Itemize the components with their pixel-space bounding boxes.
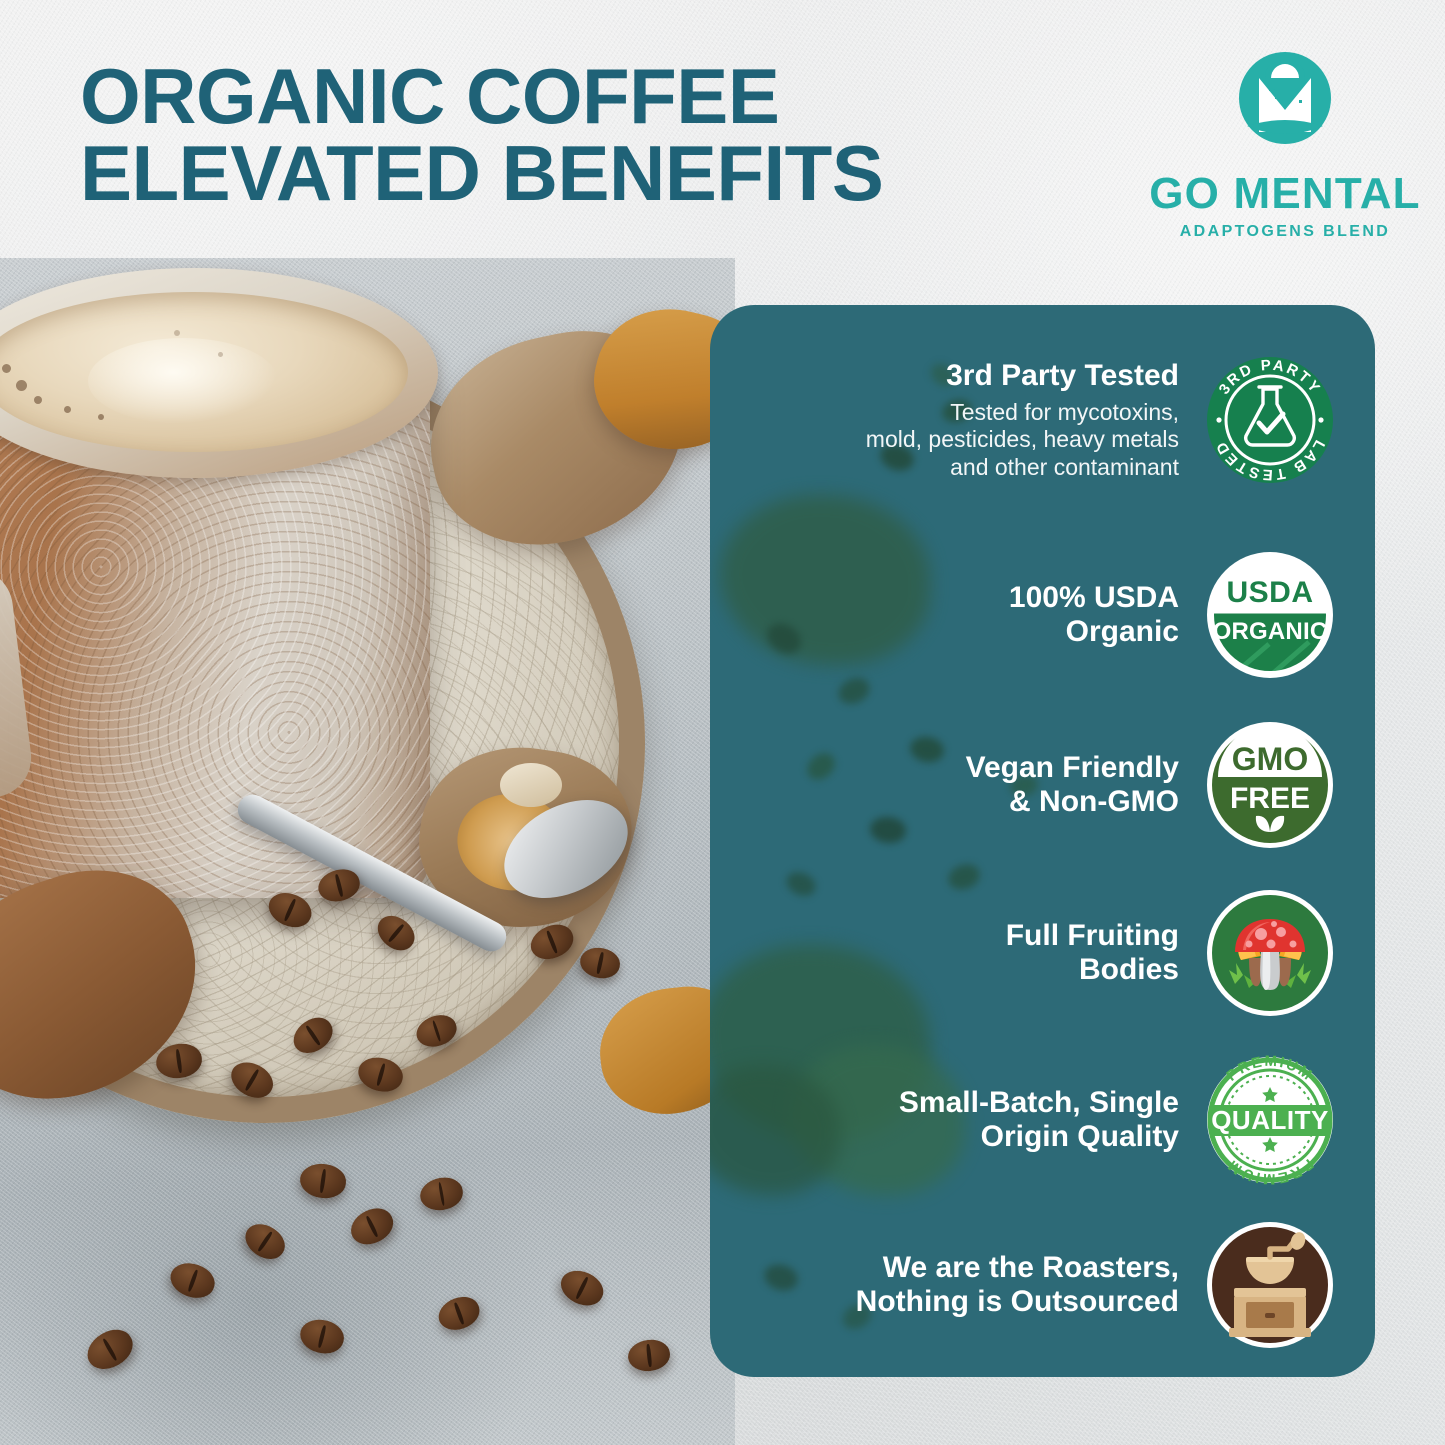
benefit-text: Full Fruiting Bodies [1006,919,1179,987]
title-line-1: ORGANIC COFFEE [80,58,960,135]
benefit-title: 100% USDA Organic [1009,581,1179,649]
usda-organic-badge-icon: USDA ORGANIC [1205,550,1335,680]
coffee-product-photo [0,258,735,1445]
coffee-mug [0,268,430,898]
svg-text:FREE: FREE [1230,782,1310,815]
benefit-text: Vegan Friendly & Non-GMO [966,751,1179,819]
svg-text:QUALITY: QUALITY [1211,1105,1329,1135]
benefit-row-vegan-non-gmo[interactable]: Vegan Friendly & Non-GMO GMO FREE [742,720,1335,850]
benefit-text: We are the Roasters, Nothing is Outsourc… [856,1251,1179,1319]
benefit-row-full-fruiting-bodies[interactable]: Full Fruiting Bodies [742,888,1335,1018]
page-title: ORGANIC COFFEE ELEVATED BENEFITS [80,58,960,212]
benefits-panel: 3rd Party Tested Tested for mycotoxins, … [710,305,1375,1377]
premium-quality-stamp-badge-icon: PREMIUM PREMIUM QUALITY [1205,1055,1335,1185]
foam-bubble [218,352,223,357]
svg-text:GMO: GMO [1232,741,1308,777]
benefit-row-usda-organic[interactable]: 100% USDA Organic USDA O [742,550,1335,680]
gmo-free-badge-icon: GMO FREE [1205,720,1335,850]
benefit-title: Small-Batch, Single Origin Quality [899,1086,1179,1154]
foam-bubble [174,330,180,336]
coffee-grinder-badge-icon [1205,1220,1335,1350]
benefit-subtitle: Tested for mycotoxins, mold, pesticides,… [866,399,1179,482]
foam-bubble [2,364,11,373]
foam-bubble [16,380,27,391]
foam-bubble [98,414,104,420]
foam-swirl [88,338,278,424]
mushroom-m-monogram-icon [1229,48,1341,160]
benefit-title: 3rd Party Tested [866,359,1179,393]
third-party-lab-tested-badge-icon: 3RD PARTY LAB TESTED [1205,355,1335,485]
benefit-title: Vegan Friendly & Non-GMO [966,751,1179,819]
mushroom-cap-piece [500,763,562,807]
benefit-row-small-batch-quality[interactable]: Small-Batch, Single Origin Quality PREMI… [742,1055,1335,1185]
svg-text:USDA: USDA [1226,576,1313,609]
foam-bubble [34,396,42,404]
foam-bubble [64,406,71,413]
benefit-row-third-party-tested[interactable]: 3rd Party Tested Tested for mycotoxins, … [742,355,1335,485]
mushrooms-badge-icon [1205,888,1335,1018]
benefit-title: Full Fruiting Bodies [1006,919,1179,987]
benefit-row-we-are-the-roasters[interactable]: We are the Roasters, Nothing is Outsourc… [742,1220,1335,1350]
benefit-text: 3rd Party Tested Tested for mycotoxins, … [866,359,1179,482]
benefit-text: Small-Batch, Single Origin Quality [899,1086,1179,1154]
svg-text:ORGANIC: ORGANIC [1213,618,1328,645]
title-line-2: ELEVATED BENEFITS [80,135,960,212]
benefit-rows: 3rd Party Tested Tested for mycotoxins, … [710,305,1375,1377]
brand-logo: GO MENTAL ADAPTOGENS BLEND [1145,48,1425,241]
benefit-text: 100% USDA Organic [1009,581,1179,649]
brand-name: GO MENTAL [1145,172,1425,216]
brand-tagline: ADAPTOGENS BLEND [1145,223,1425,241]
benefit-title: We are the Roasters, Nothing is Outsourc… [856,1251,1179,1319]
